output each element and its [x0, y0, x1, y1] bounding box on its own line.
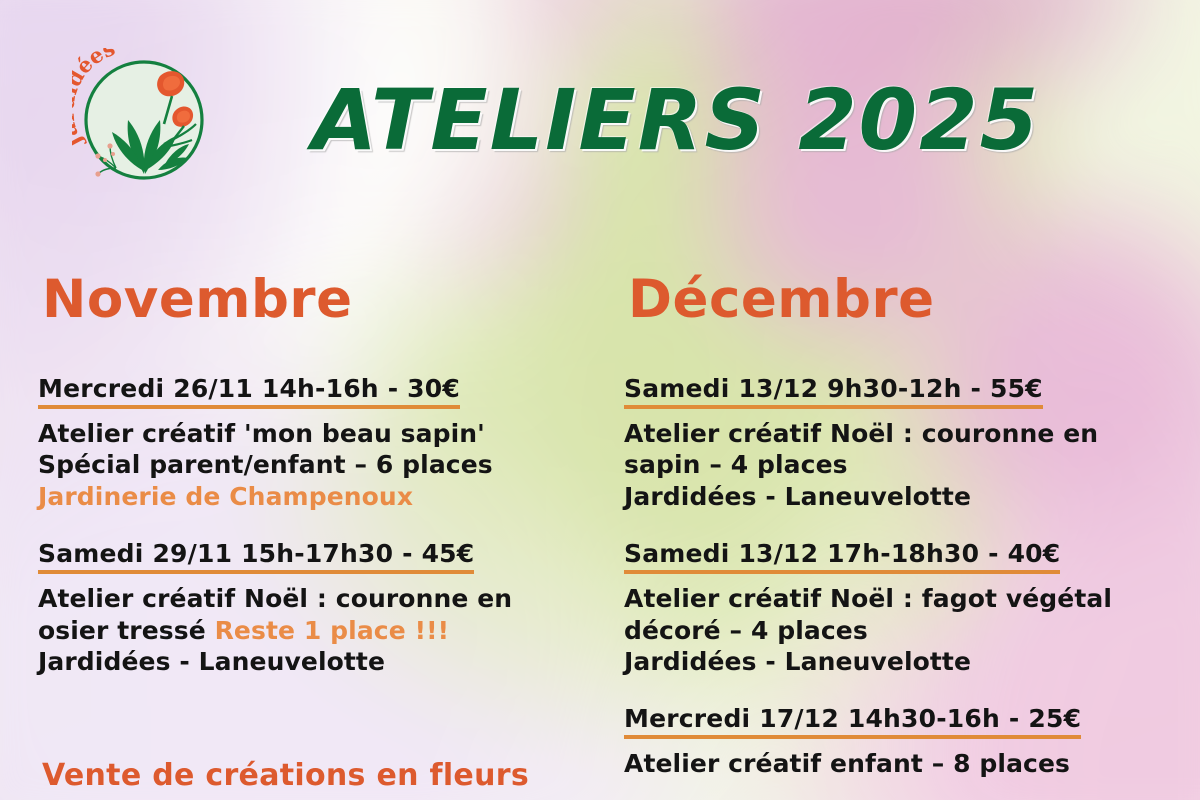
event-location-line: Jardidées - Laneuvelotte [624, 646, 1182, 678]
event-description-line: Spécial parent/enfant – 6 places [38, 449, 582, 481]
event-description-line: osier tressé Reste 1 place !!! [38, 615, 582, 647]
month-column-decembre: Décembre Samedi 13/12 9h30-12h - 55€ Ate… [600, 272, 1200, 800]
event-description-line: Atelier créatif enfant – 8 places [624, 748, 1182, 780]
event-description-line: Atelier créatif 'mon beau sapin' [38, 418, 582, 450]
month-heading-decembre: Décembre [628, 272, 1182, 328]
availability-highlight: Reste 1 place !!! [215, 616, 450, 645]
event-item: Mercredi 17/12 14h30-16h - 25€ Atelier c… [624, 704, 1182, 780]
event-date-header: Samedi 13/12 9h30-12h - 55€ [624, 374, 1043, 409]
event-description-line: Atelier créatif Noël : couronne en [624, 418, 1182, 450]
event-item: Samedi 29/11 15h-17h30 - 45€ Atelier cré… [38, 539, 582, 678]
event-item: Samedi 13/12 9h30-12h - 55€ Atelier créa… [624, 374, 1182, 513]
event-location-line: Jardidées - Laneuvelotte [38, 646, 582, 678]
event-description-line: Atelier créatif Noël : fagot végétal [624, 583, 1182, 615]
jardidees-logo: Jardidées [72, 48, 216, 192]
page-title: ATELIERS 2025 [312, 78, 1040, 162]
event-date-header: Mercredi 26/11 14h-16h - 30€ [38, 374, 460, 409]
month-column-novembre: Novembre Mercredi 26/11 14h-16h - 30€ At… [0, 272, 600, 800]
event-date-header: Samedi 29/11 15h-17h30 - 45€ [38, 539, 474, 574]
event-location-line: Jardidées - Laneuvelotte [624, 481, 1182, 513]
event-date-header: Mercredi 17/12 14h30-16h - 25€ [624, 704, 1081, 739]
sales-note: Vente de créations en fleurs [42, 758, 529, 793]
event-date-header: Samedi 13/12 17h-18h30 - 40€ [624, 539, 1060, 574]
event-description-line: Atelier créatif Noël : couronne en [38, 583, 582, 615]
poster-canvas: Jardidées ATELIERS 2025 Novembre Mercred… [0, 0, 1200, 800]
event-description-line: décoré – 4 places [624, 615, 1182, 647]
event-description-text: osier tressé [38, 616, 215, 645]
event-location-line: Jardinerie de Champenoux [38, 481, 582, 513]
event-item: Samedi 13/12 17h-18h30 - 40€ Atelier cré… [624, 539, 1182, 678]
months-container: Novembre Mercredi 26/11 14h-16h - 30€ At… [0, 272, 1200, 800]
month-heading-novembre: Novembre [42, 272, 582, 328]
event-item: Mercredi 26/11 14h-16h - 30€ Atelier cré… [38, 374, 582, 513]
event-description-line: sapin – 4 places [624, 449, 1182, 481]
